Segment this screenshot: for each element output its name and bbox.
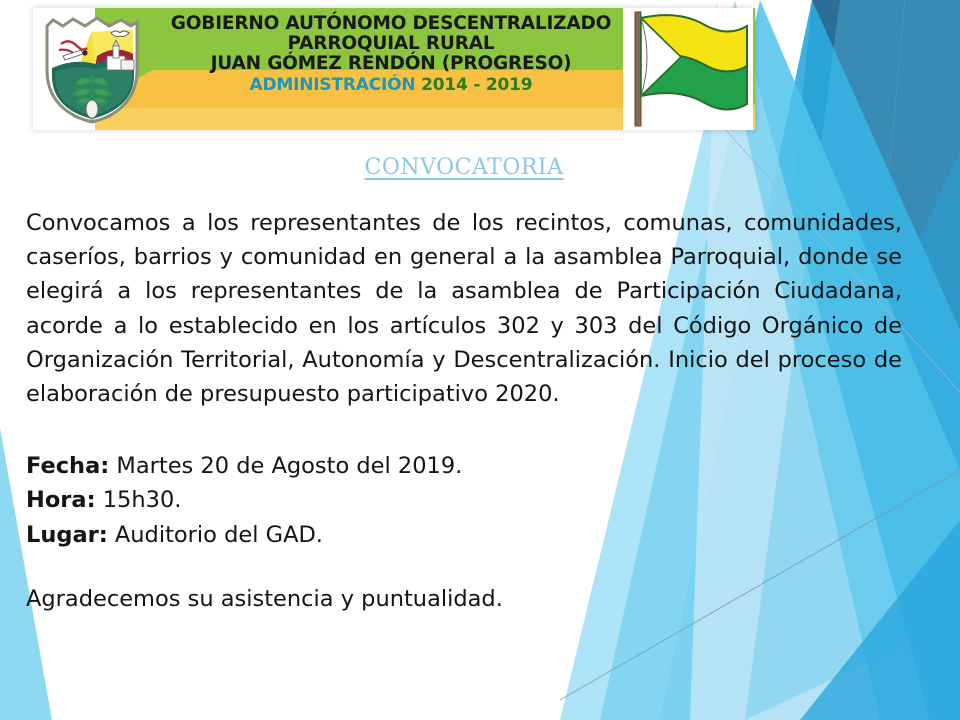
administration-years: 2014 - 2019 bbox=[421, 75, 532, 95]
banner-title-block: GOBIERNO AUTÓNOMO DESCENTRALIZADO PARROQ… bbox=[151, 14, 631, 94]
spacer bbox=[26, 411, 902, 449]
announcement-body: Convocamos a los representantes de los r… bbox=[26, 206, 902, 411]
page-title: CONVOCATORIA bbox=[26, 155, 902, 180]
main-content: CONVOCATORIA Convocamos a los representa… bbox=[26, 155, 902, 616]
detail-row-hora: Hora: 15h30. bbox=[26, 483, 902, 517]
spacer bbox=[26, 552, 902, 582]
header-banner: GOBIERNO AUTÓNOMO DESCENTRALIZADO PARROQ… bbox=[33, 8, 755, 130]
parish-flag-icon bbox=[623, 8, 753, 130]
banner-line-2: PARROQUIAL RURAL bbox=[151, 34, 631, 54]
detail-label-fecha: Fecha: bbox=[26, 453, 109, 479]
detail-row-lugar: Lugar: Auditorio del GAD. bbox=[26, 518, 902, 552]
closing-line: Agradecemos su asistencia y puntualidad. bbox=[26, 582, 902, 616]
administration-label: ADMINISTRACIÓN bbox=[250, 75, 416, 95]
banner-line-administration: ADMINISTRACIÓN 2014 - 2019 bbox=[151, 76, 631, 94]
banner-line-3: JUAN GÓMEZ RENDÓN (PROGRESO) bbox=[151, 54, 631, 74]
coat-of-arms-shield-icon bbox=[33, 10, 151, 128]
detail-label-lugar: Lugar: bbox=[26, 522, 108, 548]
detail-label-hora: Hora: bbox=[26, 487, 96, 513]
detail-value-hora: 15h30. bbox=[103, 487, 182, 513]
detail-value-lugar: Auditorio del GAD. bbox=[115, 522, 323, 548]
detail-row-fecha: Fecha: Martes 20 de Agosto del 2019. bbox=[26, 449, 902, 483]
banner-line-1: GOBIERNO AUTÓNOMO DESCENTRALIZADO bbox=[151, 14, 631, 34]
detail-value-fecha: Martes 20 de Agosto del 2019. bbox=[116, 453, 462, 479]
slide-canvas: GOBIERNO AUTÓNOMO DESCENTRALIZADO PARROQ… bbox=[0, 0, 960, 720]
